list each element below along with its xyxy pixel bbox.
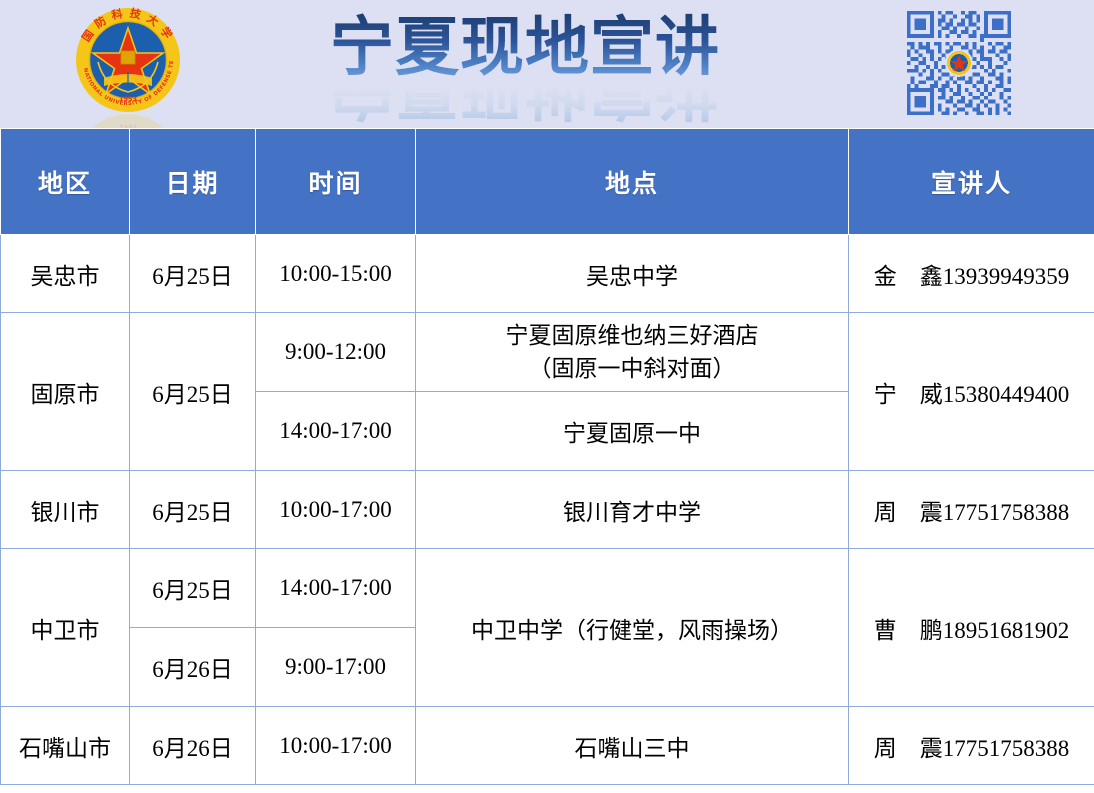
cell-place: 石嘴山三中 [416,707,849,785]
cell-region: 中卫市 [1,549,130,707]
table-row: 中卫市 6月25日 14:00-17:00 中卫中学（行健堂，风雨操场） 曹 鹏… [1,549,1094,628]
banner-title-wrap: 宁夏现地宣讲 宁夏现地宣讲 [330,8,780,126]
cell-region: 固原市 [1,313,130,471]
cell-date: 6月26日 [130,707,256,785]
cell-region: 银川市 [1,471,130,549]
cell-place: 中卫中学（行健堂，风雨操场） [416,549,849,707]
nudt-emblem-logo-reflection: 1953 [74,112,182,128]
svg-text:1953: 1953 [119,123,137,128]
column-header-speaker[interactable]: 宣讲人 [849,129,1094,235]
table-row: 石嘴山市 6月26日 10:00-17:00 石嘴山三中 周 震17751758… [1,707,1094,785]
cell-time: 10:00-15:00 [256,235,416,313]
cell-speaker: 周 震17751758388 [849,471,1094,549]
cell-region: 吴忠市 [1,235,130,313]
cell-place: 银川育才中学 [416,471,849,549]
table-row: 银川市 6月25日 10:00-17:00 银川育才中学 周 震17751758… [1,471,1094,549]
table-row: 固原市 6月25日 9:00-12:00 宁夏固原维也纳三好酒店 （固原一中斜对… [1,313,1094,392]
column-header-date[interactable]: 日期 [130,129,256,235]
poster-root: 1953 国防科技大学 NATIONAL UNIVERSITY OF DEFEN… [0,0,1094,793]
column-header-place[interactable]: 地点 [416,129,849,235]
cell-time: 10:00-17:00 [256,707,416,785]
cell-speaker: 宁 威15380449400 [849,313,1094,471]
cell-date: 6月25日 [130,549,256,628]
cell-date: 6月26日 [130,628,256,707]
cell-place-line2: （固原一中斜对面） [422,352,842,385]
cell-date: 6月25日 [130,313,256,471]
cell-time: 14:00-17:00 [256,392,416,471]
cell-time: 10:00-17:00 [256,471,416,549]
page-title-reflection: 宁夏现地宣讲 [330,86,720,128]
cell-time: 9:00-17:00 [256,628,416,707]
page-title: 宁夏现地宣讲 [330,8,780,88]
nudt-emblem-logo: 1953 国防科技大学 NATIONAL UNIVERSITY OF DEFEN… [74,6,182,114]
column-header-time[interactable]: 时间 [256,129,416,235]
schedule-table: 地区 日期 时间 地点 宣讲人 吴忠市 6月25日 10:00-15:00 吴忠… [0,128,1094,785]
cell-place: 宁夏固原一中 [416,392,849,471]
cell-place: 宁夏固原维也纳三好酒店 （固原一中斜对面） [416,313,849,392]
table-header-row: 地区 日期 时间 地点 宣讲人 [1,129,1094,235]
cell-region: 石嘴山市 [1,707,130,785]
banner-header: 1953 国防科技大学 NATIONAL UNIVERSITY OF DEFEN… [0,0,1094,128]
cell-speaker: 周 震17751758388 [849,707,1094,785]
table-row: 吴忠市 6月25日 10:00-15:00 吴忠中学 金 鑫1393994935… [1,235,1094,313]
column-header-region[interactable]: 地区 [1,129,130,235]
cell-time: 14:00-17:00 [256,549,416,628]
cell-time: 9:00-12:00 [256,313,416,392]
cell-place: 吴忠中学 [416,235,849,313]
cell-place-line1: 宁夏固原维也纳三好酒店 [422,319,842,352]
cell-date: 6月25日 [130,471,256,549]
qr-code[interactable] [903,7,1015,119]
cell-date: 6月25日 [130,235,256,313]
cell-speaker: 金 鑫13939949359 [849,235,1094,313]
cell-speaker: 曹 鹏18951681902 [849,549,1094,707]
